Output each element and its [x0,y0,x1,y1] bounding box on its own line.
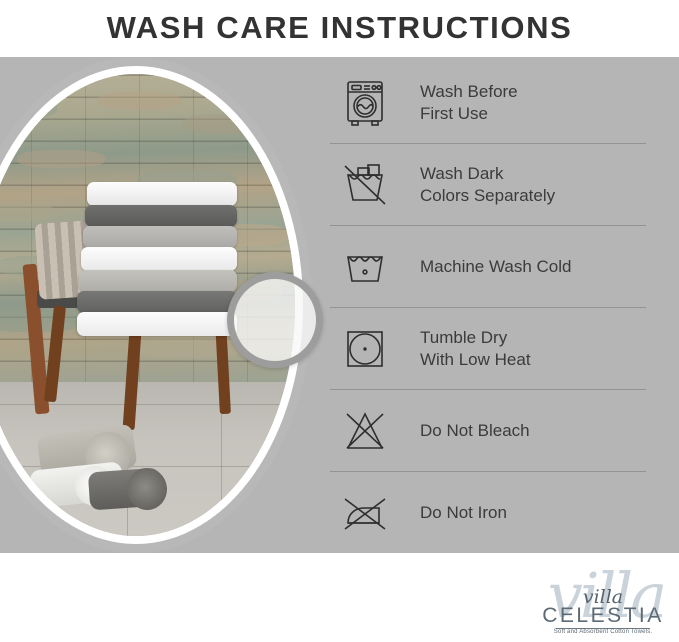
instruction-label: Wash Dark Colors Separately [420,163,555,207]
no-mixed-wash-icon [334,157,396,213]
towel-light-gray [79,270,237,292]
machine-wash-cold-icon [334,239,396,295]
instruction-row-do-not-bleach: Do Not Bleach [330,390,648,471]
brand-logo: villa villa CELESTIA Soft and Absorbent … [528,558,678,642]
wall-stone [0,204,57,222]
instruction-row-wash-before-first-use: Wash Before First Use [330,62,648,143]
instruction-label: Wash Before First Use [420,81,518,125]
instruction-list: Wash Before First Use Wash Dark Colors S… [330,62,648,550]
instruction-row-machine-wash-cold: Machine Wash Cold [330,226,648,307]
washing-machine-icon [334,75,396,131]
wall-stone [127,336,247,358]
towel-white [81,247,237,271]
wall-stone [97,92,181,110]
tumble-dry-low-icon [334,321,396,377]
instruction-label: Do Not Bleach [420,420,530,442]
towel-white [77,312,237,336]
towel-white [87,182,237,206]
instruction-row-wash-dark-colors-separately: Wash Dark Colors Separately [330,144,648,225]
instruction-label: Do Not Iron [420,502,507,524]
magnifier-overlay [227,272,323,368]
do-not-bleach-icon [334,403,396,459]
towel-dark-gray [85,205,237,227]
instruction-label: Tumble Dry With Low Heat [420,327,531,371]
do-not-iron-icon [334,485,396,541]
towel-light-gray [83,226,237,248]
page-title: WASH CARE INSTRUCTIONS [0,0,679,56]
wall-stone [183,114,279,134]
instruction-row-tumble-dry-with-low-heat: Tumble Dry With Low Heat [330,308,648,389]
wall-stone [0,100,57,118]
instruction-row-do-not-iron: Do Not Iron [330,472,648,553]
logo-tagline: Soft and Absorbent Cotton Towels. [528,629,678,635]
logo-brand-name: CELESTIA [528,604,678,628]
towel-dark-gray [77,291,237,313]
wall-stone [17,150,105,168]
instruction-label: Machine Wash Cold [420,256,572,278]
